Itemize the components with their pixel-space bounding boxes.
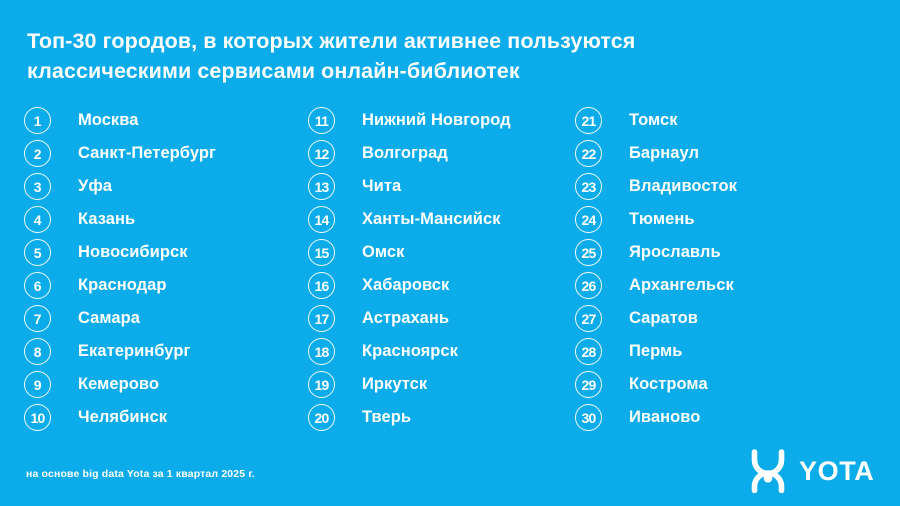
ranking-column-1: 1Москва2Санкт-Петербург3Уфа4Казань5Новос… <box>24 104 216 434</box>
ranking-row: 7Самара <box>24 302 216 335</box>
ranking-row: 21Томск <box>575 104 737 137</box>
ranking-row: 15Омск <box>308 236 511 269</box>
city-label: Астрахань <box>362 310 449 327</box>
rank-badge: 21 <box>575 107 602 134</box>
rank-badge: 2 <box>24 140 51 167</box>
rank-badge: 10 <box>24 404 51 431</box>
city-label: Самара <box>78 310 140 327</box>
rank-badge: 22 <box>575 140 602 167</box>
ranking-row: 5Новосибирск <box>24 236 216 269</box>
city-label: Владивосток <box>629 178 737 195</box>
city-label: Саратов <box>629 310 698 327</box>
city-label: Санкт-Петербург <box>78 145 216 162</box>
rank-badge: 14 <box>308 206 335 233</box>
rank-badge: 24 <box>575 206 602 233</box>
ranking-row: 6Краснодар <box>24 269 216 302</box>
city-label: Омск <box>362 244 404 261</box>
city-label: Томск <box>629 112 678 129</box>
ranking-row: 23Владивосток <box>575 170 737 203</box>
ranking-row: 22Барнаул <box>575 137 737 170</box>
ranking-column-3: 21Томск22Барнаул23Владивосток24Тюмень25Я… <box>575 104 737 434</box>
city-label: Кострома <box>629 376 708 393</box>
rank-badge: 4 <box>24 206 51 233</box>
city-label: Архангельск <box>629 277 734 294</box>
city-label: Чита <box>362 178 401 195</box>
rank-badge: 12 <box>308 140 335 167</box>
rank-badge: 29 <box>575 371 602 398</box>
rank-badge: 13 <box>308 173 335 200</box>
rank-badge: 26 <box>575 272 602 299</box>
city-label: Тюмень <box>629 211 695 228</box>
ranking-row: 28Пермь <box>575 335 737 368</box>
ranking-row: 29Кострома <box>575 368 737 401</box>
rank-badge: 1 <box>24 107 51 134</box>
rank-badge: 30 <box>575 404 602 431</box>
ranking-columns: 1Москва2Санкт-Петербург3Уфа4Казань5Новос… <box>0 104 900 444</box>
city-label: Москва <box>78 112 138 129</box>
rank-badge: 27 <box>575 305 602 332</box>
yota-wordmark: YOTA <box>799 458 874 485</box>
city-label: Барнаул <box>629 145 699 162</box>
page-title-line-2: классическими сервисами онлайн-библиотек <box>27 56 787 86</box>
ranking-row: 3Уфа <box>24 170 216 203</box>
ranking-row: 14Ханты-Мансийск <box>308 203 511 236</box>
source-footnote: на основе big data Yota за 1 квартал 202… <box>26 468 255 480</box>
city-label: Новосибирск <box>78 244 188 261</box>
ranking-row: 17Астрахань <box>308 302 511 335</box>
ranking-row: 16Хабаровск <box>308 269 511 302</box>
city-label: Кемерово <box>78 376 159 393</box>
city-label: Краснодар <box>78 277 167 294</box>
rank-badge: 9 <box>24 371 51 398</box>
rank-badge: 16 <box>308 272 335 299</box>
city-label: Хабаровск <box>362 277 449 294</box>
ranking-row: 26Архангельск <box>575 269 737 302</box>
page-title: Топ-30 городов, в которых жители активне… <box>27 26 787 86</box>
city-label: Тверь <box>362 409 411 426</box>
ranking-row: 11Нижний Новгород <box>308 104 511 137</box>
page-title-line-1: Топ-30 городов, в которых жители активне… <box>27 26 787 56</box>
ranking-row: 24Тюмень <box>575 203 737 236</box>
ranking-row: 1Москва <box>24 104 216 137</box>
city-label: Нижний Новгород <box>362 112 511 129</box>
infographic-poster: Топ-30 городов, в которых жители активне… <box>0 0 900 506</box>
city-label: Пермь <box>629 343 683 360</box>
rank-badge: 25 <box>575 239 602 266</box>
city-label: Иваново <box>629 409 700 426</box>
rank-badge: 6 <box>24 272 51 299</box>
city-label: Красноярск <box>362 343 458 360</box>
city-label: Екатеринбург <box>78 343 190 360</box>
ranking-row: 13Чита <box>308 170 511 203</box>
ranking-row: 30Иваново <box>575 401 737 434</box>
ranking-row: 2Санкт-Петербург <box>24 137 216 170</box>
ranking-row: 20Тверь <box>308 401 511 434</box>
ranking-column-2: 11Нижний Новгород12Волгоград13Чита14Хант… <box>308 104 511 434</box>
ranking-row: 19Иркутск <box>308 368 511 401</box>
ranking-row: 8Екатеринбург <box>24 335 216 368</box>
rank-badge: 19 <box>308 371 335 398</box>
rank-badge: 23 <box>575 173 602 200</box>
rank-badge: 3 <box>24 173 51 200</box>
city-label: Ярославль <box>629 244 721 261</box>
rank-badge: 15 <box>308 239 335 266</box>
city-label: Уфа <box>78 178 112 195</box>
rank-badge: 11 <box>308 107 335 134</box>
ranking-row: 27Саратов <box>575 302 737 335</box>
city-label: Волгоград <box>362 145 448 162</box>
ranking-row: 9Кемерово <box>24 368 216 401</box>
rank-badge: 7 <box>24 305 51 332</box>
rank-badge: 17 <box>308 305 335 332</box>
rank-badge: 28 <box>575 338 602 365</box>
rank-badge: 20 <box>308 404 335 431</box>
yota-logo: YOTA <box>748 449 874 493</box>
city-label: Иркутск <box>362 376 427 393</box>
city-label: Казань <box>78 211 135 228</box>
ranking-row: 12Волгоград <box>308 137 511 170</box>
city-label: Ханты-Мансийск <box>362 211 501 228</box>
ranking-row: 4Казань <box>24 203 216 236</box>
rank-badge: 8 <box>24 338 51 365</box>
ranking-row: 25Ярославль <box>575 236 737 269</box>
rank-badge: 18 <box>308 338 335 365</box>
rank-badge: 5 <box>24 239 51 266</box>
city-label: Челябинск <box>78 409 167 426</box>
yota-figure-icon <box>748 449 788 493</box>
ranking-row: 10Челябинск <box>24 401 216 434</box>
ranking-row: 18Красноярск <box>308 335 511 368</box>
